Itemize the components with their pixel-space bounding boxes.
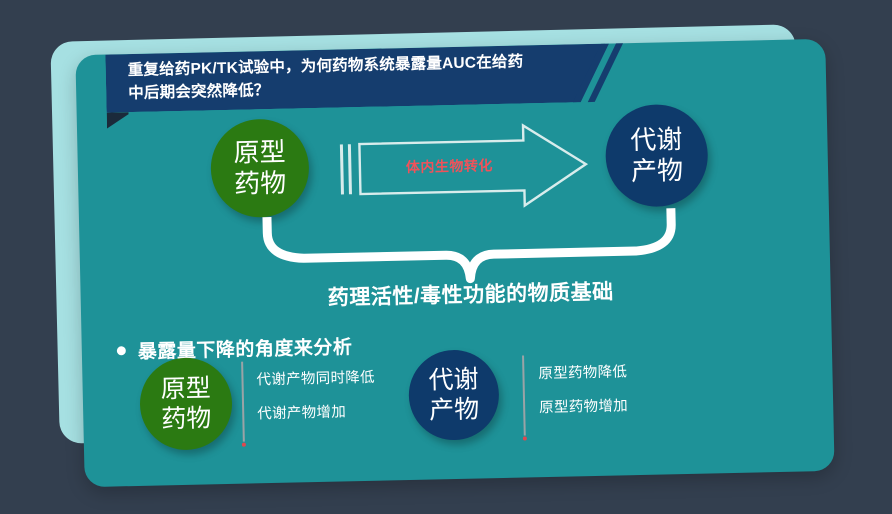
banner-fold-notch [107, 112, 129, 128]
flow-target-line1: 代谢 [630, 124, 683, 156]
list-item: 原型药物增加 [539, 389, 629, 425]
analysis-group-1-circle: 原型 药物 [139, 357, 233, 451]
flow-target-circle: 代谢 产物 [605, 103, 709, 207]
list-item: 代谢产物增加 [257, 395, 376, 432]
biotransformation-arrow: 体内生物转化 [335, 119, 607, 215]
list-item: 原型药物降低 [538, 355, 628, 391]
analysis-group-2-line1: 代谢 [428, 365, 479, 396]
arrow-label: 体内生物转化 [406, 155, 493, 177]
flow-source-circle: 原型 药物 [210, 118, 310, 218]
flow-target-line2: 产物 [631, 155, 684, 187]
analysis-group-1-line2: 药物 [161, 403, 212, 434]
analysis-bullet-label: 暴露量下降的角度来分析 [138, 332, 353, 364]
analysis-bullet: 暴露量下降的角度来分析 [117, 332, 353, 364]
flow-source-line1: 原型 [233, 137, 286, 169]
analysis-group-1-divider [241, 362, 245, 442]
flow-source-line2: 药物 [234, 168, 287, 200]
analysis-group-2-circle: 代谢 产物 [408, 349, 500, 441]
analysis-group-2-divider [522, 356, 526, 436]
slide-canvas: 重复给药PK/TK试验中，为何药物系统暴露量AUC在给药 中后期会突然降低？ 原… [0, 0, 892, 514]
title-banner: 重复给药PK/TK试验中，为何药物系统暴露量AUC在给药 中后期会突然降低？ [105, 44, 606, 113]
analysis-group-1-line1: 原型 [160, 373, 211, 404]
analysis-group-2-list: 原型药物降低 原型药物增加 [538, 355, 628, 425]
title-text: 重复给药PK/TK试验中，为何药物系统暴露量AUC在给药 中后期会突然降低？ [127, 51, 553, 105]
list-item: 代谢产物同时降低 [256, 361, 375, 398]
slide-content: 重复给药PK/TK试验中，为何药物系统暴露量AUC在给药 中后期会突然降低？ 原… [75, 39, 834, 487]
title-banner-shape: 重复给药PK/TK试验中，为何药物系统暴露量AUC在给药 中后期会突然降低？ [105, 44, 606, 113]
analysis-group-2-line2: 产物 [429, 395, 480, 426]
bullet-dot-icon [117, 346, 126, 355]
analysis-group-1-list: 代谢产物同时降低 代谢产物增加 [256, 361, 376, 432]
